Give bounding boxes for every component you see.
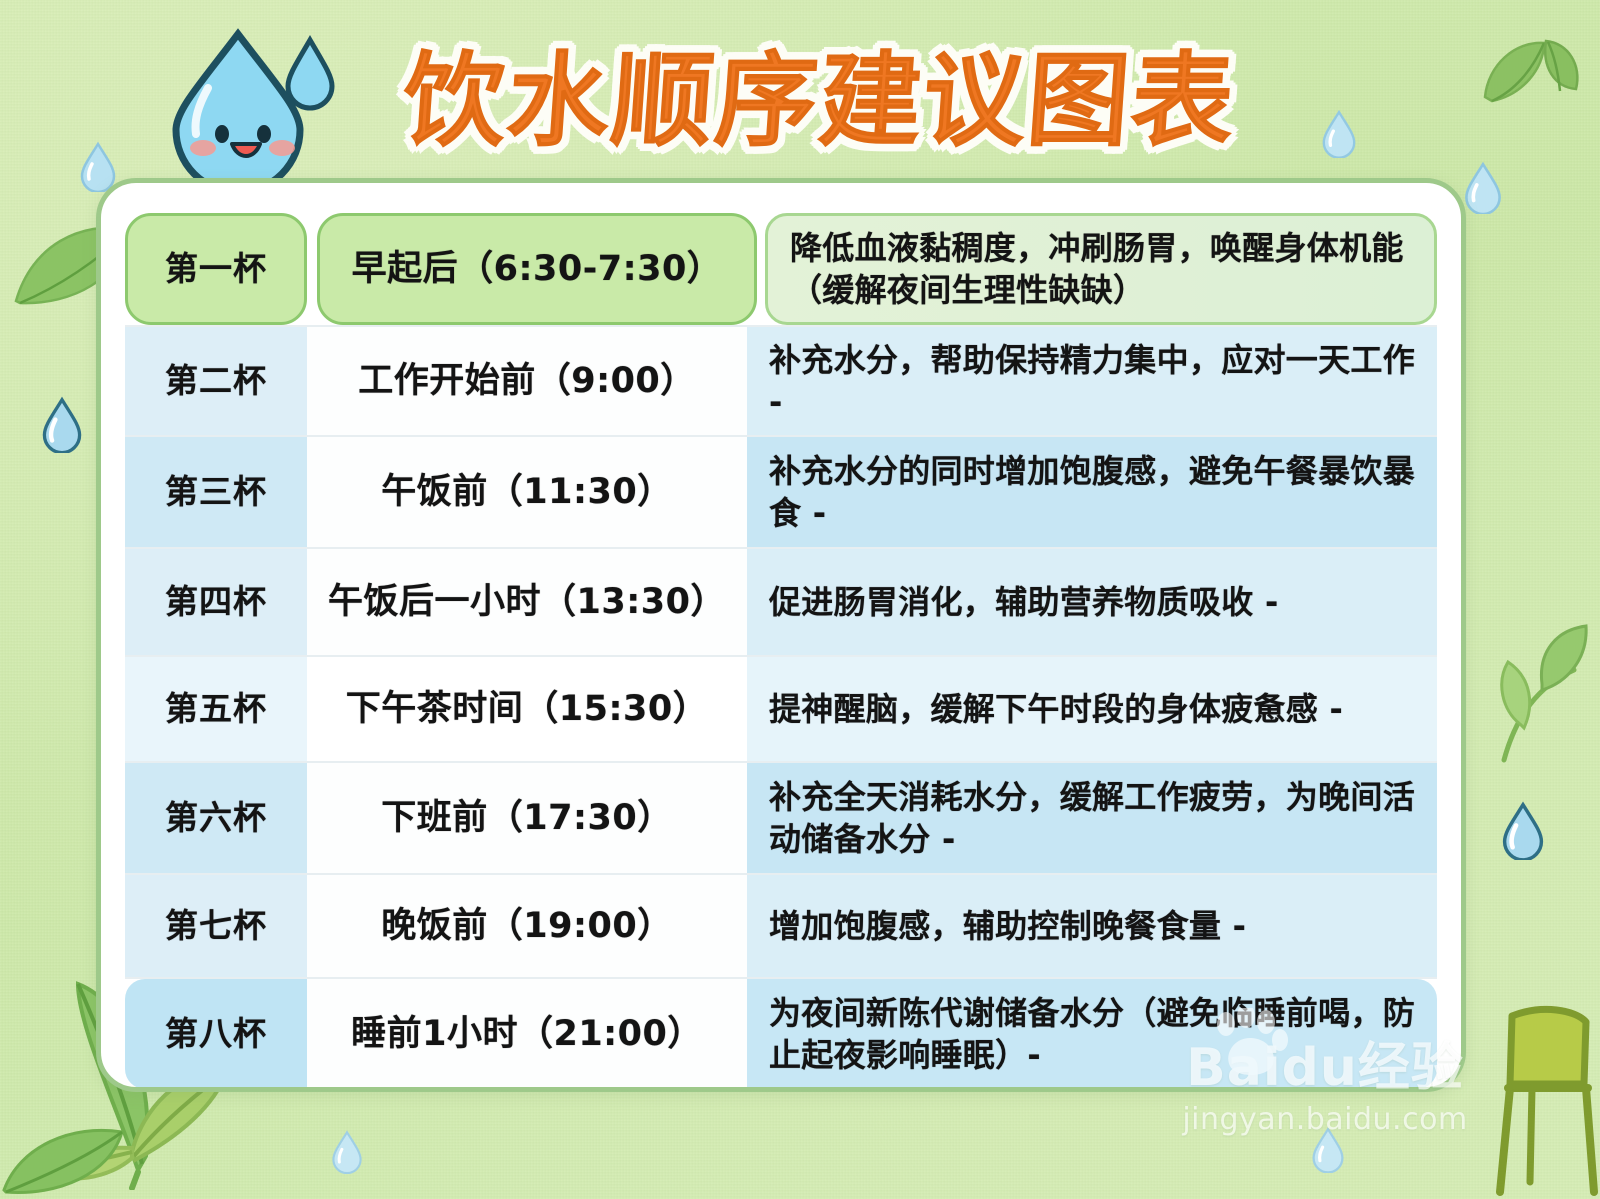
cell-cup-number: 第一杯 — [125, 213, 307, 325]
description-label: 为夜间新陈代谢储备水分（避免临睡前喝，防止起夜影响睡眠）- — [769, 992, 1427, 1076]
cell-description: 降低血液黏稠度，冲刷肠胃，唤醒身体机能（缓解夜间生理性缺缺） — [765, 213, 1437, 325]
cup-number-label: 第一杯 — [165, 247, 267, 291]
cell-cup-number: 第二杯 — [125, 327, 307, 435]
description-label: 提神醒脑，缓解下午时段的身体疲惫感 - — [769, 688, 1343, 730]
time-label: 睡前1小时（21:00） — [351, 1011, 703, 1057]
cell-time: 睡前1小时（21:00） — [307, 979, 747, 1089]
cell-time: 晚饭前（19:00） — [307, 875, 747, 977]
page-title-text: 饮水顺序建议图表 — [399, 19, 1241, 166]
cell-cup-number: 第六杯 — [125, 763, 307, 873]
water-drop-mascot-icon — [160, 22, 360, 187]
sprout-decoration-right — [1490, 620, 1600, 770]
cup-number-label: 第二杯 — [165, 359, 267, 403]
cell-time: 午饭后一小时（13:30） — [307, 549, 747, 655]
time-label: 下午茶时间（15:30） — [346, 686, 708, 732]
description-label: 促进肠胃消化，辅助营养物质吸收 - — [769, 581, 1279, 623]
leaf-decoration-bottom-left-small — [0, 1120, 150, 1199]
droplet-icon-5 — [1500, 800, 1546, 860]
time-label: 下班前（17:30） — [381, 795, 672, 841]
table-row[interactable]: 第四杯 午饭后一小时（13:30） 促进肠胃消化，辅助营养物质吸收 - — [125, 549, 1437, 655]
cell-time: 下午茶时间（15:30） — [307, 657, 747, 761]
droplet-icon-7 — [330, 1128, 364, 1174]
water-schedule-table: 第一杯 早起后（6:30-7:30） 降低血液黏稠度，冲刷肠胃，唤醒身体机能（缓… — [125, 213, 1437, 1063]
table-row[interactable]: 第三杯 午饭前（11:30） 补充水分的同时增加饱腹感，避免午餐暴饮暴食 - — [125, 437, 1437, 547]
cell-description: 促进肠胃消化，辅助营养物质吸收 - — [747, 549, 1437, 655]
watermark-sub-text: jingyan.baidu.com — [1160, 1102, 1490, 1137]
cup-number-label: 第三杯 — [165, 470, 267, 514]
cell-cup-number: 第八杯 — [125, 979, 307, 1089]
time-label: 午饭后一小时（13:30） — [328, 579, 726, 625]
page-title: 饮水顺序建议图表 — [370, 30, 1270, 155]
cup-number-label: 第四杯 — [165, 580, 267, 624]
description-label: 补充全天消耗水分，缓解工作疲劳，为晚间活动储备水分 - — [769, 776, 1427, 860]
description-label: 增加饱腹感，辅助控制晚餐食量 - — [769, 905, 1246, 947]
cup-number-label: 第八杯 — [165, 1012, 267, 1056]
chart-card: 第一杯 早起后（6:30-7:30） 降低血液黏稠度，冲刷肠胃，唤醒身体机能（缓… — [96, 178, 1466, 1092]
cell-description: 为夜间新陈代谢储备水分（避免临睡前喝，防止起夜影响睡眠）- — [747, 979, 1437, 1089]
table-row[interactable]: 第七杯 晚饭前（19:00） 增加饱腹感，辅助控制晚餐食量 - — [125, 875, 1437, 977]
cell-description: 提神醒脑，缓解下午时段的身体疲惫感 - — [747, 657, 1437, 761]
cell-time: 午饭前（11:30） — [307, 437, 747, 547]
description-label: 降低血液黏稠度，冲刷肠胃，唤醒身体机能（缓解夜间生理性缺缺） — [790, 227, 1424, 311]
cell-time: 工作开始前（9:00） — [307, 327, 747, 435]
cell-cup-number: 第三杯 — [125, 437, 307, 547]
cell-cup-number: 第七杯 — [125, 875, 307, 977]
cup-number-label: 第七杯 — [165, 904, 267, 948]
table-row[interactable]: 第六杯 下班前（17:30） 补充全天消耗水分，缓解工作疲劳，为晚间活动储备水分… — [125, 763, 1437, 873]
time-label: 晚饭前（19:00） — [381, 903, 672, 949]
cell-cup-number: 第四杯 — [125, 549, 307, 655]
cell-time: 下班前（17:30） — [307, 763, 747, 873]
cup-number-label: 第五杯 — [165, 687, 267, 731]
cup-number-label: 第六杯 — [165, 796, 267, 840]
table-row[interactable]: 第五杯 下午茶时间（15:30） 提神醒脑，缓解下午时段的身体疲惫感 - — [125, 657, 1437, 761]
cell-description: 补充全天消耗水分，缓解工作疲劳，为晚间活动储备水分 - — [747, 763, 1437, 873]
cell-description: 补充水分，帮助保持精力集中，应对一天工作 - — [747, 327, 1437, 435]
time-label: 早起后（6:30-7:30） — [352, 246, 723, 292]
table-row[interactable]: 第八杯 睡前1小时（21:00） 为夜间新陈代谢储备水分（避免临睡前喝，防止起夜… — [125, 979, 1437, 1089]
cell-time: 早起后（6:30-7:30） — [317, 213, 757, 325]
chair-decoration — [1490, 1000, 1600, 1199]
table-row[interactable]: 第二杯 工作开始前（9:00） 补充水分，帮助保持精力集中，应对一天工作 - — [125, 327, 1437, 435]
table-row[interactable]: 第一杯 早起后（6:30-7:30） 降低血液黏稠度，冲刷肠胃，唤醒身体机能（缓… — [125, 213, 1437, 325]
cell-description: 增加饱腹感，辅助控制晚餐食量 - — [747, 875, 1437, 977]
time-label: 午饭前（11:30） — [381, 469, 672, 515]
droplet-icon-4 — [40, 395, 84, 453]
droplet-icon-8 — [1310, 1125, 1346, 1173]
time-label: 工作开始前（9:00） — [358, 358, 696, 404]
description-label: 补充水分的同时增加饱腹感，避免午餐暴饮暴食 - — [769, 450, 1427, 534]
cell-description: 补充水分的同时增加饱腹感，避免午餐暴饮暴食 - — [747, 437, 1437, 547]
description-label: 补充水分，帮助保持精力集中，应对一天工作 - — [769, 339, 1427, 423]
page-header: 饮水顺序建议图表 — [0, 0, 1600, 180]
cell-cup-number: 第五杯 — [125, 657, 307, 761]
